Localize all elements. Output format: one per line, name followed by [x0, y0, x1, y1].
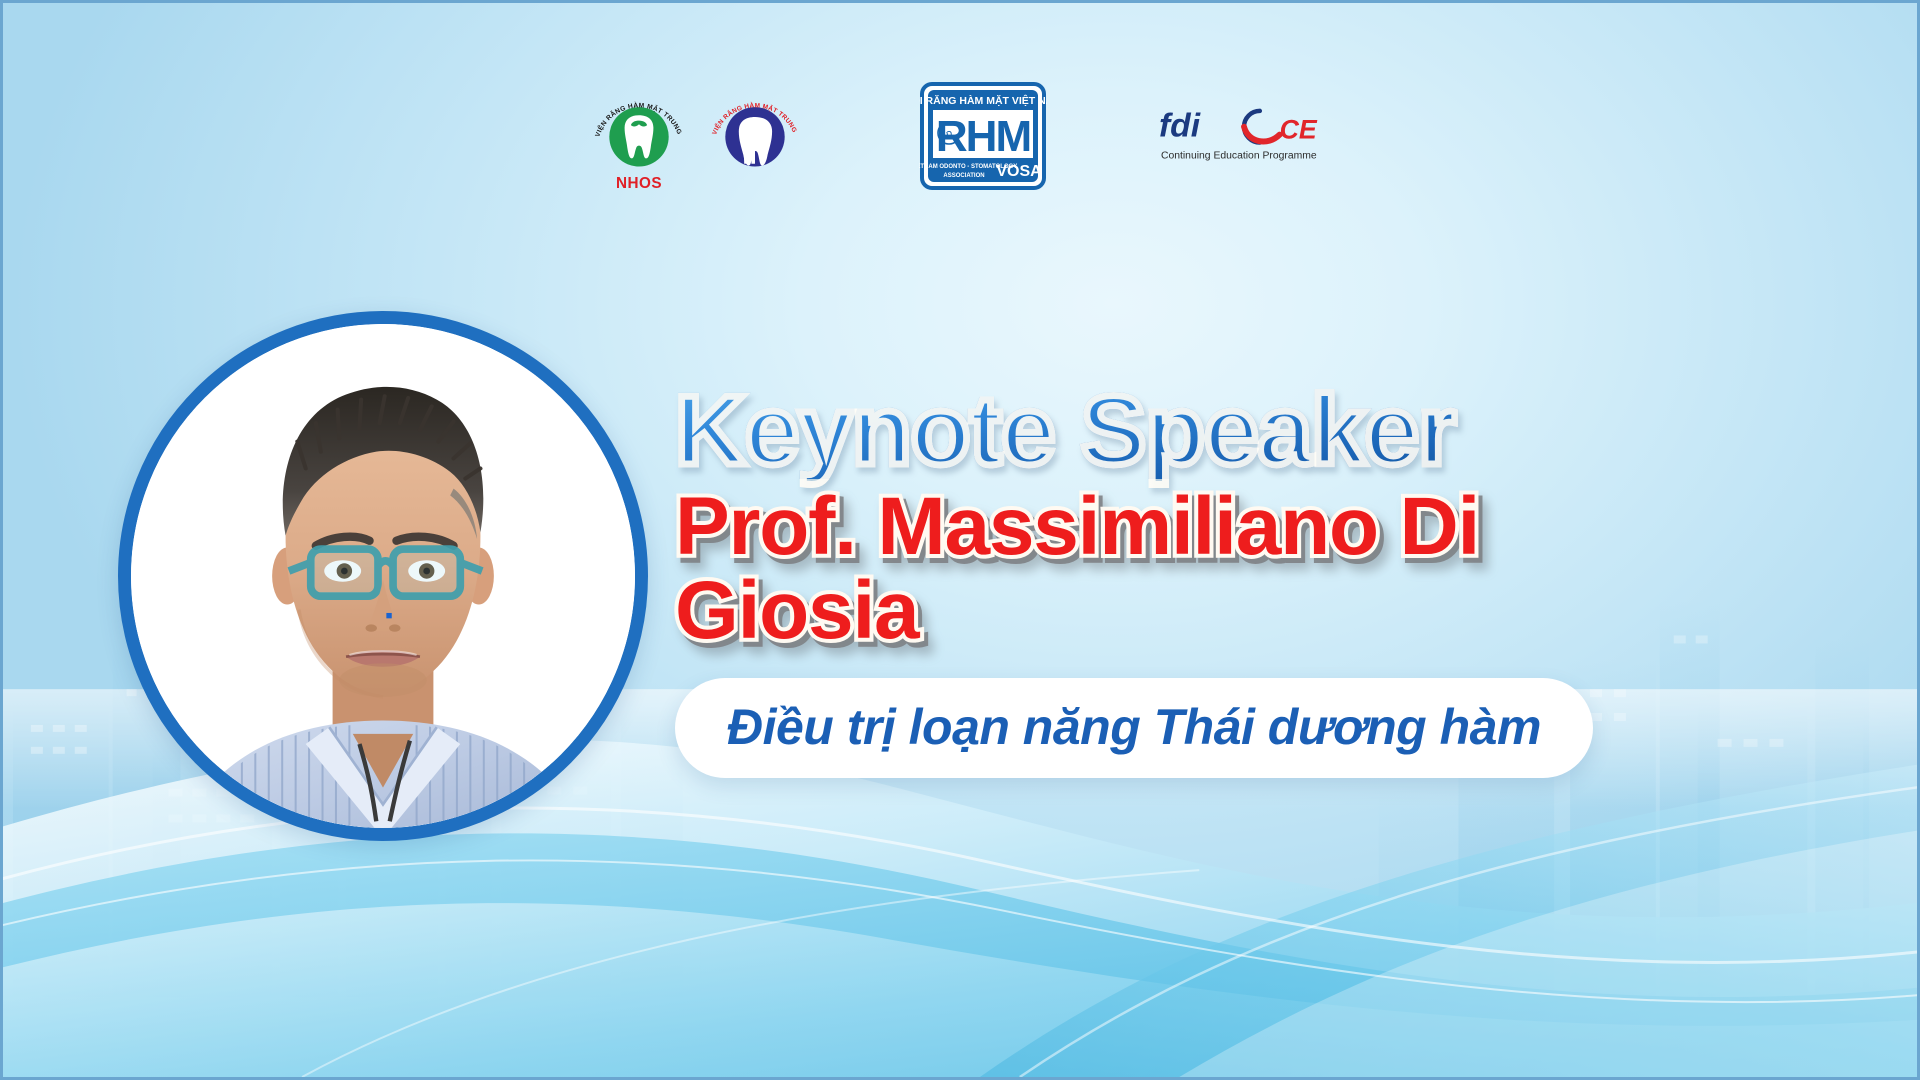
- speaker-text-block: Keynote Speaker Prof. Massimiliano Di Gi…: [675, 381, 1675, 778]
- portrait-ring-border: [118, 311, 648, 841]
- speaker-name: Prof. Massimiliano Di Giosia: [675, 485, 1675, 652]
- avatar: [131, 324, 635, 828]
- keynote-speaker-banner: BỆNH VIỆN RĂNG HÀM MẶT TRUNG ƯƠNG NHOS: [0, 0, 1920, 1080]
- topic-pill: Điều trị loạn năng Thái dương hàm: [675, 678, 1593, 778]
- portrait-photo-clip: [131, 324, 635, 828]
- page-title: Keynote Speaker: [675, 381, 1675, 479]
- topic-text: Điều trị loạn năng Thái dương hàm: [727, 698, 1541, 756]
- speaker-portrait: [118, 311, 648, 841]
